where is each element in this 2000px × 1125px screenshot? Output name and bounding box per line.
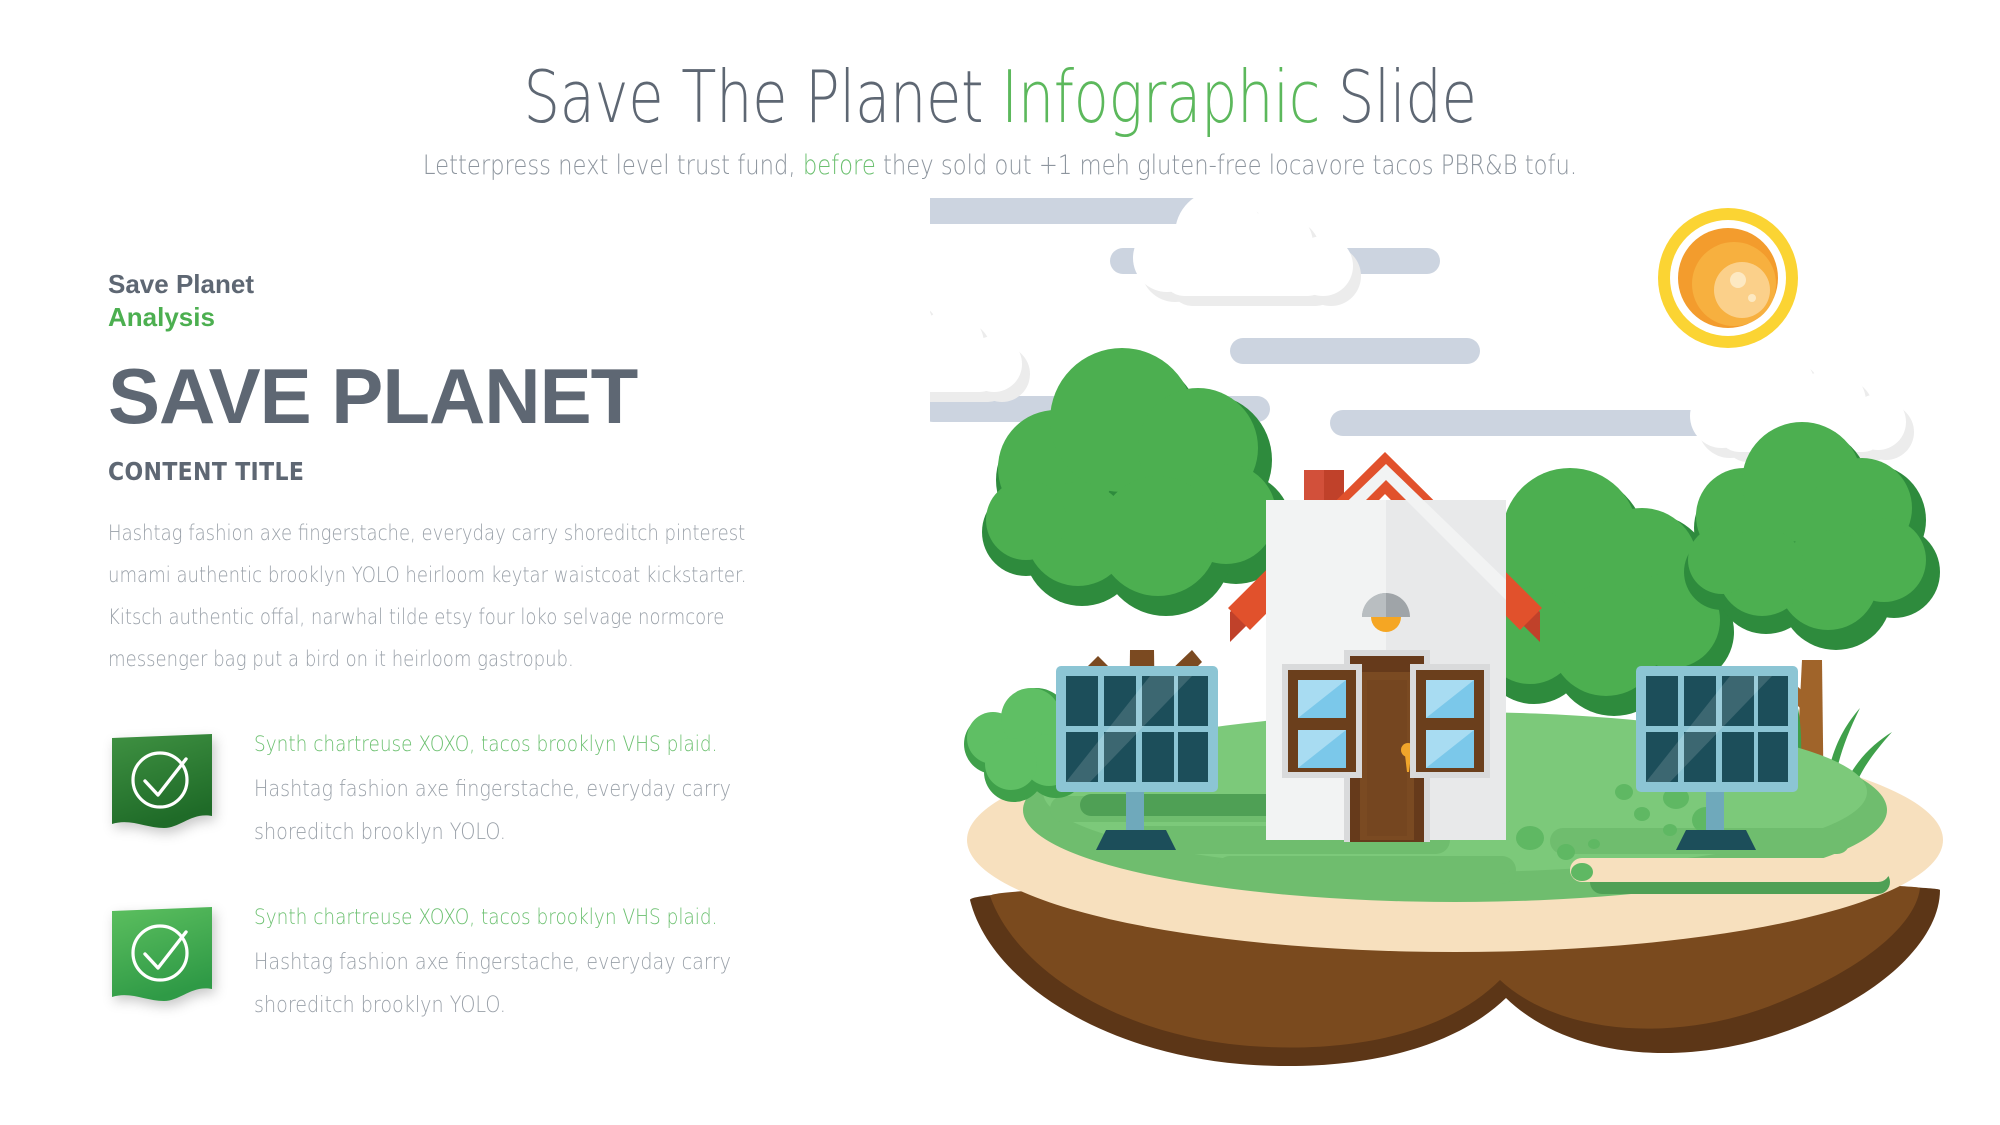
window bbox=[1410, 664, 1490, 778]
feature-list: Synth chartreuse XOXO, tacos brooklyn VH… bbox=[108, 726, 908, 1028]
eyebrow-line-1: Save Planet bbox=[108, 269, 254, 299]
content-sub-headline: CONTENT TITLE bbox=[108, 457, 812, 486]
eyebrow-label: Save Planet Analysis bbox=[108, 268, 908, 335]
content-column: Save Planet Analysis SAVE PLANET CONTENT… bbox=[108, 268, 908, 1071]
list-item-title: Synth chartreuse XOXO, tacos brooklyn VH… bbox=[254, 905, 835, 930]
page-title-part2: Slide bbox=[1320, 55, 1476, 139]
check-circle-icon bbox=[108, 732, 220, 844]
list-item-description: Hashtag fashion axe fingerstache, everyd… bbox=[254, 942, 828, 1028]
window bbox=[1282, 664, 1362, 778]
slide-header: Save The Planet Infographic Slide Letter… bbox=[0, 60, 2000, 181]
section-headline: SAVE PLANET bbox=[108, 357, 908, 435]
list-item-text: Synth chartreuse XOXO, tacos brooklyn VH… bbox=[254, 899, 914, 1028]
page-subtitle-part1: Letterpress next level trust fund, bbox=[423, 150, 803, 181]
page-subtitle-accent: before bbox=[803, 150, 876, 181]
wind-line bbox=[930, 198, 1710, 436]
body-paragraph: Hashtag fashion axe fingerstache, everyd… bbox=[108, 512, 796, 680]
page-title-accent: Infographic bbox=[1001, 55, 1320, 139]
page-subtitle: Letterpress next level trust fund, befor… bbox=[160, 150, 1840, 181]
page-subtitle-part2: they sold out +1 meh gluten-free locavor… bbox=[876, 150, 1577, 181]
sun-icon bbox=[1658, 208, 1798, 348]
slide-root: Save The Planet Infographic Slide Letter… bbox=[0, 0, 2000, 1125]
page-title-part1: Save The Planet bbox=[524, 55, 1002, 139]
list-item-title: Synth chartreuse XOXO, tacos brooklyn VH… bbox=[254, 732, 835, 757]
list-item-text: Synth chartreuse XOXO, tacos brooklyn VH… bbox=[254, 726, 914, 855]
house-icon bbox=[1228, 452, 1542, 842]
check-circle-icon bbox=[108, 905, 220, 1017]
page-title: Save The Planet Infographic Slide bbox=[200, 60, 1800, 136]
eco-house-floating-island-illustration bbox=[930, 180, 2000, 1080]
list-item[interactable]: Synth chartreuse XOXO, tacos brooklyn VH… bbox=[108, 899, 908, 1028]
list-item[interactable]: Synth chartreuse XOXO, tacos brooklyn VH… bbox=[108, 726, 908, 855]
list-item-description: Hashtag fashion axe fingerstache, everyd… bbox=[254, 769, 828, 855]
eyebrow-line-2: Analysis bbox=[108, 301, 908, 334]
